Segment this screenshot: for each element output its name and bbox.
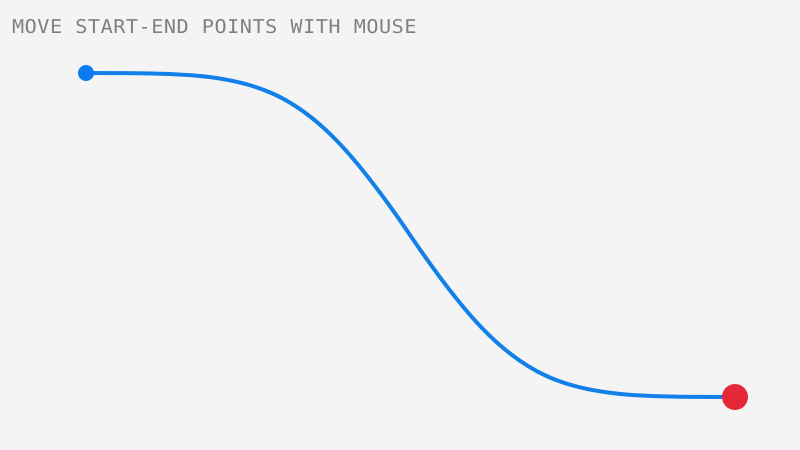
app-root: MOVE START-END POINTS WITH MOUSE: [0, 0, 800, 450]
start-point-handle[interactable]: [78, 65, 94, 81]
bezier-canvas-stage[interactable]: MOVE START-END POINTS WITH MOUSE: [0, 0, 800, 450]
end-point-handle[interactable]: [722, 384, 748, 410]
bezier-canvas[interactable]: [0, 0, 800, 450]
canvas-background: [0, 0, 800, 450]
page-title: MOVE START-END POINTS WITH MOUSE: [12, 16, 417, 38]
